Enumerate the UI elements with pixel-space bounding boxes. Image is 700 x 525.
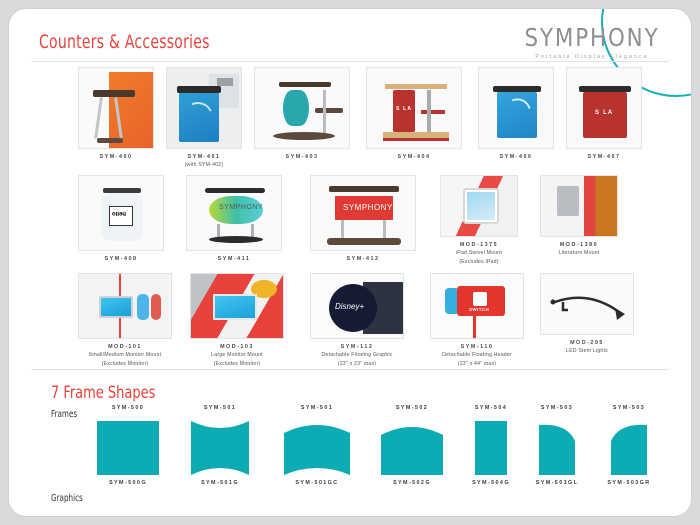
product-subtext: iPad Swivel Mount (Excludes iPad) (456, 250, 502, 265)
product-card[interactable]: S LA SYM-404 (365, 67, 463, 161)
graphic-code: SYM-502G (373, 480, 451, 486)
product-thumbnail (190, 273, 284, 339)
product-code: SYM-408 (77, 255, 165, 263)
product-code: SYM-407 (565, 153, 643, 161)
product-code: MOD-103 (220, 344, 254, 350)
frame-code: SYM-501 (181, 405, 259, 411)
product-code: SYM-401 (188, 154, 221, 160)
brand-logo: SYMPHONY Portable Display Elegance (517, 23, 667, 60)
product-thumbnail (540, 273, 634, 335)
product-thumbnail (78, 273, 172, 339)
graphic-code: SYM-503GR (597, 480, 661, 486)
graphic-code: SYM-501GC (275, 480, 359, 486)
frame-shape-graphic (181, 415, 259, 477)
product-code: MOD-1380 (560, 242, 598, 248)
product-thumbnail (254, 67, 350, 149)
product-subtext: Detachable Floating Graphic (23" x 23" m… (321, 352, 392, 367)
frame-code: SYM-504 (461, 405, 521, 411)
product-thumbnail: SYMPHONY (186, 175, 282, 251)
product-subtext: LED Stem Lights (566, 348, 608, 354)
graphic-code: SYM-501G (181, 480, 259, 486)
header-divider (31, 61, 669, 62)
frame-shape-item[interactable]: SYM-502 SYM-502G (373, 405, 451, 486)
product-thumbnail: SYMPHONY (310, 175, 416, 251)
product-code: MOD-101 (108, 344, 142, 350)
frame-shape-item[interactable]: SYM-503 SYM-503GR (597, 405, 661, 486)
frame-shape-graphic (461, 415, 521, 477)
product-thumbnail: S LA (366, 67, 462, 149)
frame-shape-item[interactable]: SYM-500 SYM-500G (89, 405, 167, 486)
product-thumbnail: Disney+ (310, 273, 404, 339)
brand-text-sola: S LA (595, 110, 613, 116)
product-code: SYM-112 (341, 344, 374, 350)
page-title: Counters & Accessories (39, 31, 210, 53)
product-thumbnail (478, 67, 554, 149)
product-subtext: Large Monitor Mount (Excludes Monitor) (211, 352, 263, 367)
product-thumbnail: SWITCH (430, 273, 524, 339)
frame-shape-item[interactable]: SYM-501 SYM-501GC (275, 405, 359, 486)
frame-shape-graphic (373, 415, 451, 477)
product-thumbnail: S LA (566, 67, 642, 149)
product-card[interactable]: SYMPHONY SYM-411 (185, 175, 283, 263)
product-code: SYM-403 (253, 153, 351, 161)
catalog-page: Counters & Accessories SYMPHONY Portable… (8, 8, 692, 517)
brand-text-sola: S LA (396, 106, 412, 112)
logo-wordmark: SYMPHONY (521, 23, 664, 52)
graphic-text-switch: SWITCH (469, 307, 489, 312)
product-card[interactable]: MOD-1375 iPad Swivel Mount (Excludes iPa… (439, 175, 519, 267)
product-card[interactable]: MOD-103 Large Monitor Mount (Excludes Mo… (189, 273, 285, 369)
page-header: Counters & Accessories (39, 31, 247, 53)
product-code: SYM-411 (185, 255, 283, 263)
product-card[interactable]: SYMPHONY SYM-412 (309, 175, 417, 263)
graphics-row-label: Graphics (51, 493, 83, 504)
graphic-text-symphony: SYMPHONY (343, 203, 393, 212)
frame-code: SYM-503 (525, 405, 589, 411)
frame-code: SYM-501 (275, 405, 359, 411)
graphic-code: SYM-503GL (525, 480, 589, 486)
product-subtext: Small/Medium Monitor Mount (Excludes Mon… (89, 352, 162, 367)
frame-code: SYM-500 (89, 405, 167, 411)
product-card[interactable]: MOD-1380 Literature Mount (539, 175, 619, 258)
product-subtext: (with SYM-402) (185, 162, 224, 168)
frame-shape-graphic (89, 415, 167, 477)
product-card[interactable]: SYM-406 (477, 67, 555, 161)
frame-shape-item[interactable]: SYM-503 SYM-503GL (525, 405, 589, 486)
frame-shape-item[interactable]: SYM-501 SYM-501G (181, 405, 259, 486)
frame-shape-item[interactable]: SYM-504 SYM-504G (461, 405, 521, 486)
product-thumbnail (78, 67, 154, 149)
product-subtext: Literature Mount (559, 250, 600, 256)
product-code: SYM-110 (461, 344, 494, 350)
frame-code: SYM-503 (597, 405, 661, 411)
section-divider (31, 369, 669, 370)
product-card[interactable]: MOD-101 Small/Medium Monitor Mount (Excl… (77, 273, 173, 369)
product-card[interactable]: Disney+ SYM-112 Detachable Floating Grap… (309, 273, 405, 369)
frames-section-title: 7 Frame Shapes (51, 383, 155, 403)
product-thumbnail (540, 175, 618, 237)
product-card[interactable]: SYM-401 (with SYM-402) (165, 67, 243, 170)
product-card[interactable]: SYM-400 (77, 67, 155, 161)
graphic-text-disney: Disney+ (335, 302, 364, 311)
product-code: MOD-295 (570, 340, 604, 346)
led-stem-light-illustration (541, 274, 634, 335)
graphic-code: SYM-500G (89, 480, 167, 486)
graphic-text-hello: hello (112, 210, 126, 216)
logo-tagline: Portable Display Elegance (517, 54, 667, 60)
product-thumbnail (440, 175, 518, 237)
frame-shape-graphic (525, 415, 589, 477)
product-card[interactable]: SWITCH SYM-110 Detachable Floating Heade… (429, 273, 525, 369)
product-thumbnail: hello (78, 175, 164, 251)
product-code: SYM-412 (309, 255, 417, 263)
product-code: MOD-1375 (460, 242, 498, 248)
frame-shape-graphic (275, 415, 359, 477)
product-subtext: Detachable Floating Header (23" x 44" ma… (442, 352, 512, 367)
product-card[interactable]: hello SYM-408 (77, 175, 165, 263)
frames-row-label: Frames (51, 409, 77, 420)
product-code: SYM-400 (77, 153, 155, 161)
product-thumbnail (166, 67, 242, 149)
frame-shape-graphic (597, 415, 661, 477)
graphic-code: SYM-504G (461, 480, 521, 486)
frame-code: SYM-502 (373, 405, 451, 411)
product-code: SYM-404 (365, 153, 463, 161)
product-card[interactable]: S LA SYM-407 (565, 67, 643, 161)
product-code: SYM-406 (477, 153, 555, 161)
product-card[interactable]: MOD-295 LED Stem Lights (539, 273, 635, 356)
graphic-text-symphony: SYMPHONY (219, 204, 263, 211)
product-card[interactable]: SYM-403 (253, 67, 351, 161)
